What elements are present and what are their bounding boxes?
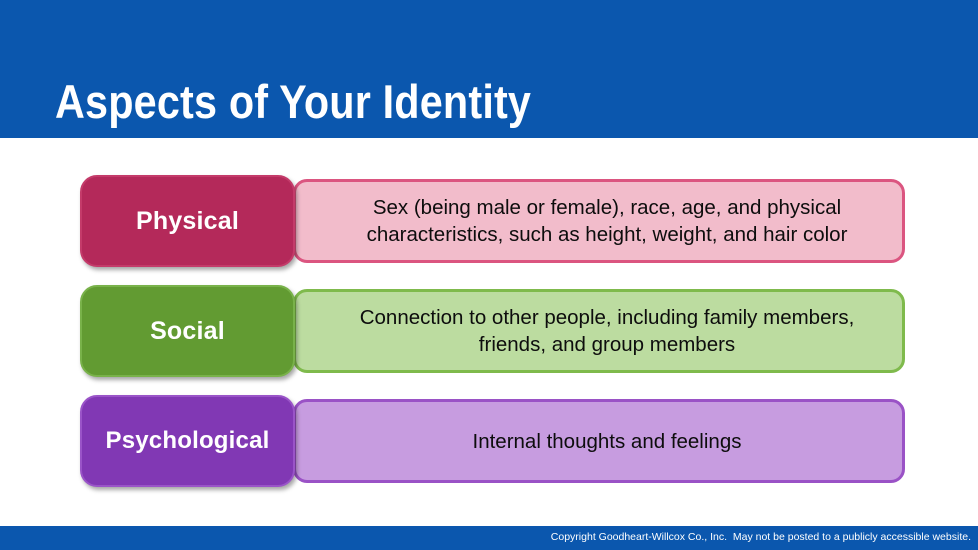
diagram-row-label-physical: Physical (80, 175, 295, 267)
diagram-row-description: Connection to other people, including fa… (293, 289, 905, 373)
slide-footer-bar: Copyright Goodheart-Willcox Co., Inc. Ma… (0, 526, 978, 550)
diagram-row-description: Sex (being male or female), race, age, a… (293, 179, 905, 263)
diagram-row-psychological: Internal thoughts and feelings Psycholog… (80, 395, 905, 487)
page-title: Aspects of Your Identity (55, 73, 531, 131)
slide-header-bar: Aspects of Your Identity (0, 0, 978, 138)
diagram-row-physical: Sex (being male or female), race, age, a… (80, 175, 905, 267)
diagram-row-description: Internal thoughts and feelings (293, 399, 905, 483)
diagram-row-social: Connection to other people, including fa… (80, 285, 905, 377)
copyright-notice: Copyright Goodheart-Willcox Co., Inc. Ma… (551, 530, 971, 545)
diagram-row-label-psychological: Psychological (80, 395, 295, 487)
identity-aspects-diagram: Sex (being male or female), race, age, a… (0, 138, 978, 526)
diagram-row-label-social: Social (80, 285, 295, 377)
